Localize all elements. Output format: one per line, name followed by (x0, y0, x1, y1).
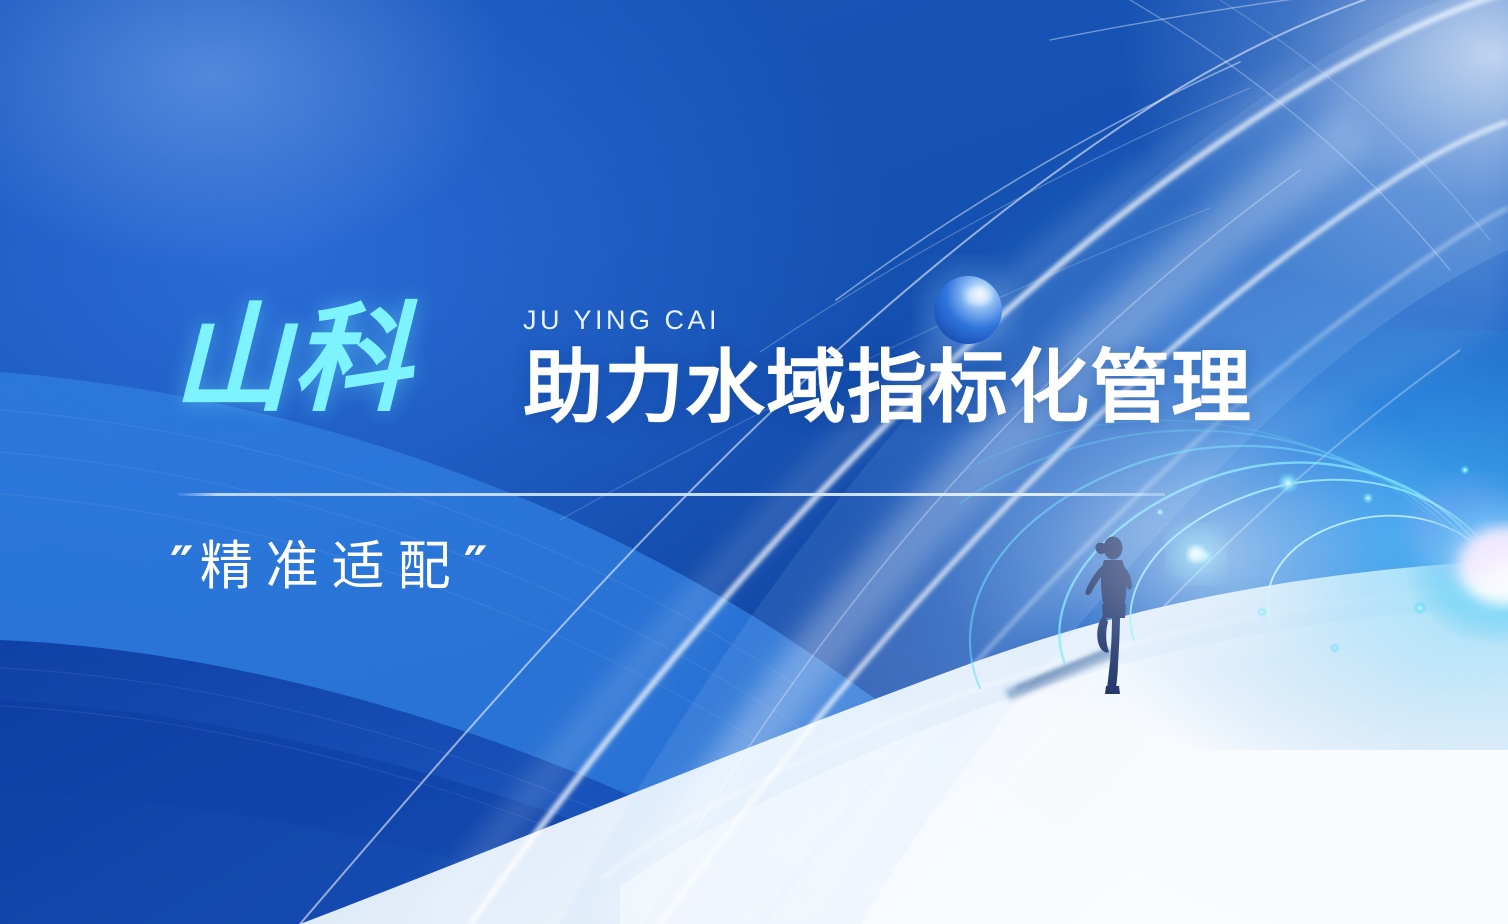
banner-tagline: ″精准适配″ (170, 540, 493, 593)
tagline-text: 精准适配 (200, 536, 464, 597)
tagline-open-quote: ″ (170, 536, 200, 597)
banner-content: 山科 JU YING CAI 助力水域指标化管理 ″精准适配″ (0, 0, 1508, 924)
banner-headline: 助力水域指标化管理 (523, 348, 1252, 428)
brand-logo: 山科 (172, 300, 412, 418)
brand-logo-cn: 山科 (172, 300, 412, 418)
divider-line (178, 493, 1165, 496)
promo-banner: 山科 JU YING CAI 助力水域指标化管理 ″精准适配″ (0, 0, 1508, 924)
tagline-close-quote: ″ (464, 536, 494, 597)
brand-pinyin: JU YING CAI (523, 307, 1252, 334)
headline-block: JU YING CAI 助力水域指标化管理 (523, 307, 1252, 428)
